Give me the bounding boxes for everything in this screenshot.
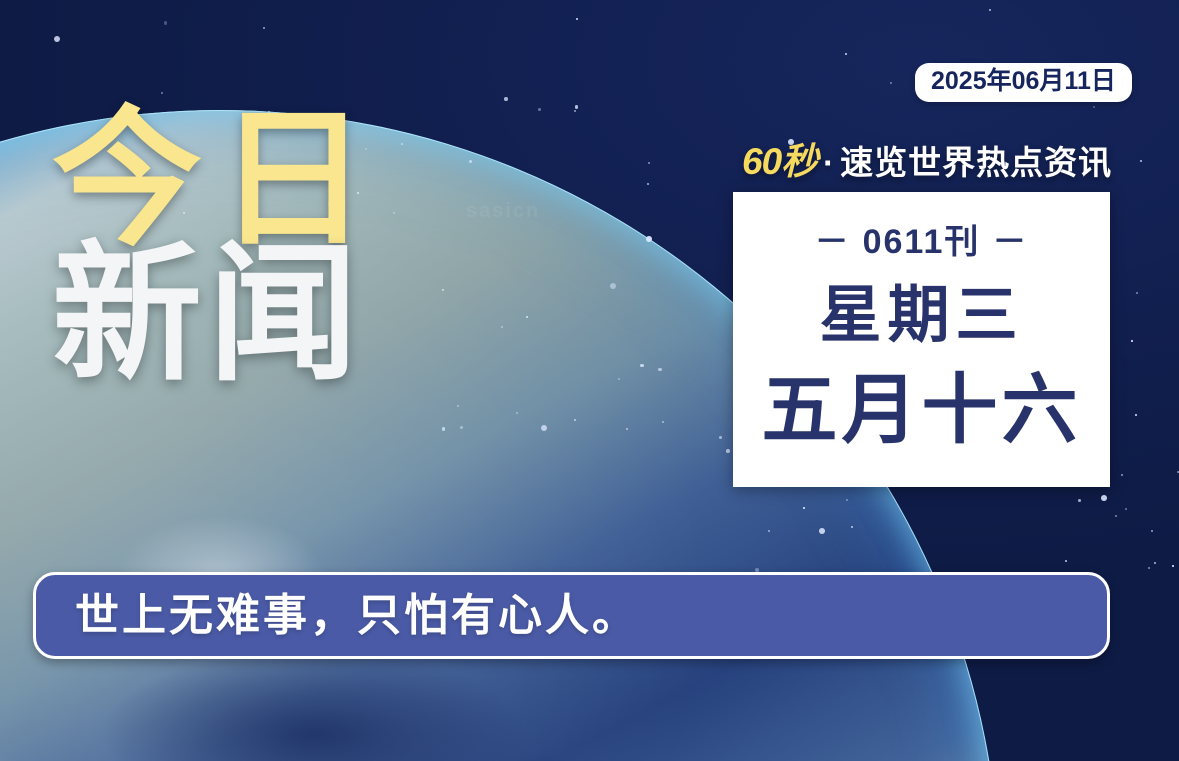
quote-text: 世上无难事，只怕有心人。 [75, 594, 639, 638]
issue-number-row: －0611刊－ [803, 214, 1041, 263]
tagline-separator: · [823, 144, 834, 181]
tagline-text: 速览世界热点资讯 [840, 144, 1112, 181]
page-title: 今日 新闻 [52, 106, 384, 389]
issue-dash-left: － [815, 214, 851, 263]
lunar-date-label: 五月十六 [762, 373, 1082, 449]
tagline-highlight: 60秒 [742, 141, 817, 182]
issue-number: 0611刊 [863, 223, 981, 261]
watermark-text: sasicn [466, 200, 540, 223]
title-line-xinwen: 新闻 [52, 239, 384, 389]
news-poster: sasicn 2025年06月11日 今日 新闻 60秒·速览世界热点资讯 －0… [0, 0, 1179, 761]
quote-banner: 世上无难事，只怕有心人。 [33, 572, 1110, 659]
issue-dash-right: － [992, 214, 1028, 263]
issue-info-card: －0611刊－ 星期三 五月十六 [733, 192, 1110, 487]
weekday-label: 星期三 [819, 285, 1023, 347]
tagline: 60秒·速览世界热点资讯 [742, 143, 1112, 180]
date-badge: 2025年06月11日 [915, 63, 1132, 102]
